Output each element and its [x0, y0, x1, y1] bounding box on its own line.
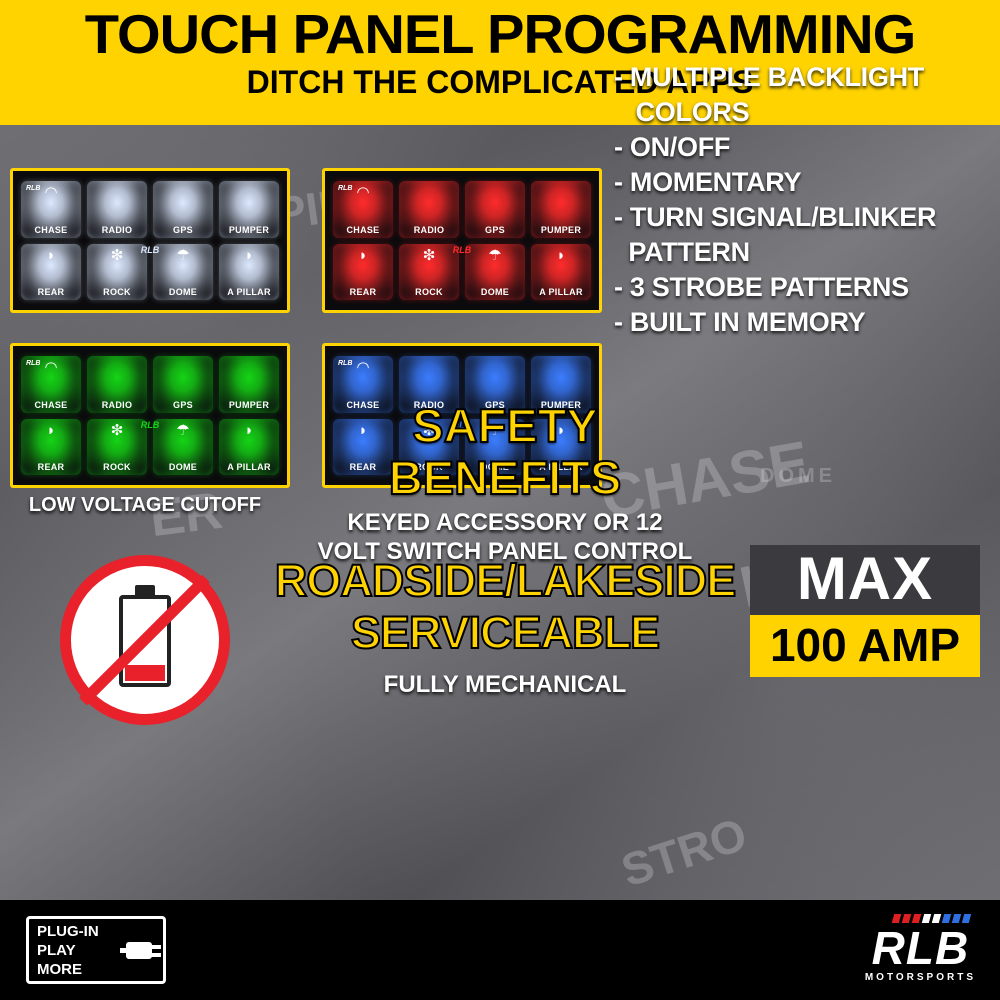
max-amp-badge: MAX 100 AMP	[750, 545, 980, 677]
switch-panel-green[interactable]: RLB◠CHASERADIOGPSPUMPER◗REAR❇ROCK☂DOME◗A…	[10, 343, 290, 488]
pillar-light-icon: ◗	[244, 423, 253, 438]
switch-button-pumper[interactable]: PUMPER	[219, 356, 279, 413]
rlb-badge: RLB	[26, 185, 40, 192]
switch-grid: RLB◠CHASERADIOGPSPUMPER◗REAR❇ROCK☂DOME◗A…	[21, 181, 279, 300]
feature-item: - MOMENTARY	[614, 165, 1000, 200]
low-voltage-label: LOW VOLTAGE CUTOFF	[20, 494, 270, 517]
plug-and-play-badge: PLUG-IN PLAY MORE	[26, 916, 166, 984]
feature-item: - BUILT IN MEMORY	[614, 305, 1000, 340]
switch-button-a-pillar[interactable]: ◗A PILLAR	[531, 244, 591, 301]
rear-light-icon: ◗	[46, 423, 55, 438]
rlb-badge: RLB	[338, 185, 352, 192]
feature-list: - MULTIPLE BACKLIGHT COLORS - ON/OFF - M…	[614, 60, 1000, 340]
switch-label: PUMPER	[229, 225, 269, 235]
logo-dash	[962, 914, 971, 923]
switch-button-rock[interactable]: ❇ROCK	[87, 244, 147, 301]
switch-label: PUMPER	[229, 400, 269, 410]
ghost-text-stro: STRO	[615, 807, 753, 898]
rock-light-icon: ❇	[111, 248, 124, 263]
switch-label: DOME	[169, 462, 197, 472]
max-label: MAX	[750, 545, 980, 615]
battery-prohibited-icon	[60, 555, 230, 725]
switch-panel-white[interactable]: RLB◠CHASERADIOGPSPUMPER◗REAR❇ROCK☂DOME◗A…	[10, 168, 290, 313]
switch-button-radio[interactable]: RADIO	[87, 181, 147, 238]
feature-item: - ON/OFF	[614, 130, 1000, 165]
beacon-icon: ◠	[356, 185, 369, 200]
switch-label: CHASE	[346, 225, 379, 235]
footer: PLUG-IN PLAY MORE RLB MOTORSPORTS	[0, 900, 1000, 1000]
switch-button-chase[interactable]: RLB◠CHASE	[21, 356, 81, 413]
switch-label: RADIO	[102, 225, 133, 235]
switch-panel-red[interactable]: RLB◠CHASERADIOGPSPUMPER◗REAR❇ROCK☂DOME◗A…	[322, 168, 602, 313]
switch-button-pumper[interactable]: PUMPER	[219, 181, 279, 238]
switch-label: A PILLAR	[227, 462, 271, 472]
switch-label: REAR	[38, 462, 65, 472]
switch-button-chase[interactable]: RLB◠CHASE	[333, 181, 393, 238]
switch-button-pumper[interactable]: PUMPER	[531, 181, 591, 238]
switch-button-gps[interactable]: GPS	[153, 181, 213, 238]
switch-label: GPS	[173, 225, 193, 235]
switch-label: A PILLAR	[227, 287, 271, 297]
switch-button-a-pillar[interactable]: ◗A PILLAR	[219, 244, 279, 301]
dome-light-icon: ☂	[176, 248, 189, 263]
switch-label: A PILLAR	[539, 287, 583, 297]
switch-label: GPS	[173, 400, 193, 410]
switch-label: PUMPER	[541, 225, 581, 235]
switch-label: RADIO	[102, 400, 133, 410]
ghost-text-dome: DOME	[760, 465, 836, 488]
rock-light-icon: ❇	[111, 423, 124, 438]
panel-center-logo: RLB	[453, 245, 472, 255]
roadside-subtitle: FULLY MECHANICAL	[255, 671, 755, 699]
switch-label: REAR	[350, 287, 377, 297]
switch-button-dome[interactable]: ☂DOME	[465, 244, 525, 301]
beacon-icon: ◠	[44, 360, 57, 375]
rlb-motorsports-logo: RLB MOTORSPORTS	[865, 914, 976, 983]
switch-label: ROCK	[415, 287, 443, 297]
panel-center-logo: RLB	[141, 420, 160, 430]
switch-label: CHASE	[34, 225, 67, 235]
poster-root: TOUCH PANEL PROGRAMMING DITCH THE COMPLI…	[0, 0, 1000, 1000]
feature-item: - TURN SIGNAL/BLINKER PATTERN	[614, 200, 1000, 270]
battery-cap-icon	[135, 585, 155, 596]
safety-benefits-block: SAFETY BENEFITS KEYED ACCESSORY OR 12 VO…	[295, 400, 715, 566]
panel-center-logo: RLB	[141, 245, 160, 255]
rlb-badge: RLB	[338, 360, 352, 367]
roadside-block: ROADSIDE/LAKESIDE SERVICEABLE FULLY MECH…	[255, 555, 755, 699]
switch-label: ROCK	[103, 287, 131, 297]
rear-light-icon: ◗	[358, 248, 367, 263]
battery-low-fill	[125, 665, 165, 681]
feature-item: - 3 STROBE PATTERNS	[614, 270, 1000, 305]
switch-button-rear[interactable]: ◗REAR	[333, 244, 393, 301]
switch-grid: RLB◠CHASERADIOGPSPUMPER◗REAR❇ROCK☂DOME◗A…	[333, 181, 591, 300]
feature-item: - MULTIPLE BACKLIGHT COLORS	[614, 60, 1000, 130]
switch-button-radio[interactable]: RADIO	[87, 356, 147, 413]
roadside-title: ROADSIDE/LAKESIDE SERVICEABLE	[255, 555, 755, 659]
brand-subtitle: MOTORSPORTS	[865, 972, 976, 983]
brand-name: RLB	[865, 925, 976, 971]
safety-title: SAFETY BENEFITS	[295, 400, 715, 504]
switch-button-gps[interactable]: GPS	[153, 356, 213, 413]
pillar-light-icon: ◗	[556, 248, 565, 263]
beacon-icon: ◠	[356, 360, 369, 375]
switch-button-chase[interactable]: RLB◠CHASE	[21, 181, 81, 238]
rear-light-icon: ◗	[46, 248, 55, 263]
beacon-icon: ◠	[44, 185, 57, 200]
rock-light-icon: ❇	[423, 248, 436, 263]
switch-label: REAR	[38, 287, 65, 297]
switch-button-rear[interactable]: ◗REAR	[21, 244, 81, 301]
switch-button-radio[interactable]: RADIO	[399, 181, 459, 238]
pillar-light-icon: ◗	[244, 248, 253, 263]
switch-button-gps[interactable]: GPS	[465, 181, 525, 238]
switch-label: ROCK	[103, 462, 131, 472]
dome-light-icon: ☂	[176, 423, 189, 438]
plug-icon	[120, 928, 163, 972]
rlb-badge: RLB	[26, 360, 40, 367]
switch-button-dome[interactable]: ☂DOME	[153, 419, 213, 476]
switch-button-rear[interactable]: ◗REAR	[21, 419, 81, 476]
switch-button-rock[interactable]: ❇ROCK	[399, 244, 459, 301]
amp-value: 100 AMP	[750, 615, 980, 677]
dome-light-icon: ☂	[488, 248, 501, 263]
switch-grid: RLB◠CHASERADIOGPSPUMPER◗REAR❇ROCK☂DOME◗A…	[21, 356, 279, 475]
switch-label: RADIO	[414, 225, 445, 235]
switch-button-dome[interactable]: ☂DOME	[153, 244, 213, 301]
switch-label: DOME	[481, 287, 509, 297]
plug-and-play-text: PLUG-IN PLAY MORE	[29, 922, 120, 979]
switch-label: GPS	[485, 225, 505, 235]
switch-button-rock[interactable]: ❇ROCK	[87, 419, 147, 476]
page-title: TOUCH PANEL PROGRAMMING	[0, 0, 1000, 64]
switch-label: CHASE	[34, 400, 67, 410]
switch-label: DOME	[169, 287, 197, 297]
switch-button-a-pillar[interactable]: ◗A PILLAR	[219, 419, 279, 476]
